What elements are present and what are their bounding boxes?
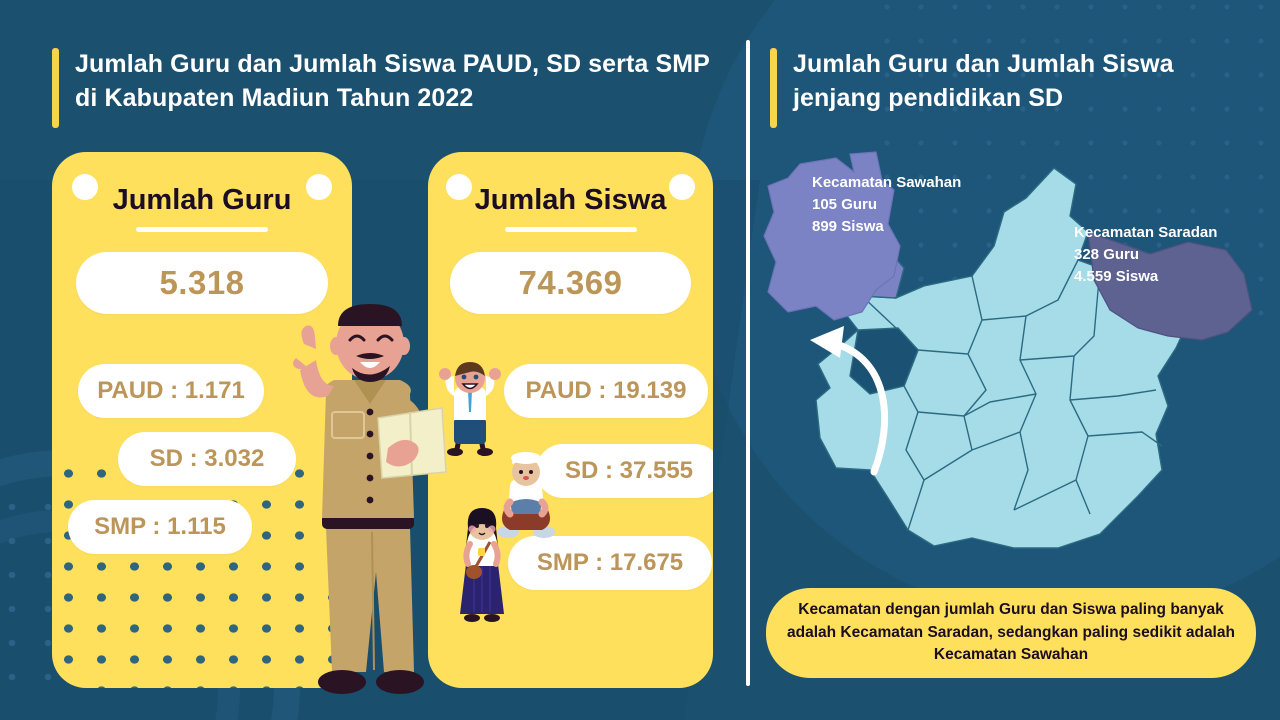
student-boy-cheering-illustration [434, 360, 506, 456]
siswa-sd-pill: SD : 37.555 [536, 444, 713, 498]
saradan-student-count: 4.559 Siswa [1074, 266, 1217, 288]
title-accent-bar [52, 48, 59, 128]
vertical-divider [746, 40, 750, 686]
right-title-text: Jumlah Guru dan Jumlah Siswa jenjang pen… [793, 48, 1240, 115]
total-siswa-pill: 74.369 [450, 252, 691, 314]
right-panel-title: Jumlah Guru dan Jumlah Siswa jenjang pen… [770, 48, 1240, 128]
map-caption-box: Kecamatan dengan jumlah Guru dan Siswa p… [766, 588, 1256, 678]
left-panel-title: Jumlah Guru dan Jumlah Siswa PAUD, SD se… [52, 48, 712, 128]
sawahan-teacher-count: 105 Guru [812, 194, 961, 216]
student-girl-illustration [452, 508, 512, 624]
sawahan-student-count: 899 Siswa [812, 216, 961, 238]
siswa-paud-pill: PAUD : 19.139 [504, 364, 708, 418]
map-caption-text: Kecamatan dengan jumlah Guru dan Siswa p… [766, 599, 1256, 668]
guru-sd-pill: SD : 3.032 [118, 432, 296, 486]
sawahan-district-name: Kecamatan Sawahan [812, 172, 961, 194]
guru-paud-pill: PAUD : 1.171 [78, 364, 264, 418]
card-divider-rule [136, 227, 268, 232]
card-heading-siswa: Jumlah Siswa [428, 184, 713, 217]
title-accent-bar [770, 48, 777, 128]
siswa-smp-pill: SMP : 17.675 [508, 536, 712, 590]
left-title-text: Jumlah Guru dan Jumlah Siswa PAUD, SD se… [75, 48, 712, 115]
card-heading-guru: Jumlah Guru [52, 184, 352, 217]
saradan-district-name: Kecamatan Saradan [1074, 222, 1217, 244]
saradan-teacher-count: 328 Guru [1074, 244, 1217, 266]
card-divider-rule [505, 227, 637, 232]
guru-smp-pill: SMP : 1.115 [68, 500, 252, 554]
map-annotation-saradan: Kecamatan Saradan 328 Guru 4.559 Siswa [1074, 222, 1217, 288]
map-annotation-sawahan: Kecamatan Sawahan 105 Guru 899 Siswa [812, 172, 961, 238]
